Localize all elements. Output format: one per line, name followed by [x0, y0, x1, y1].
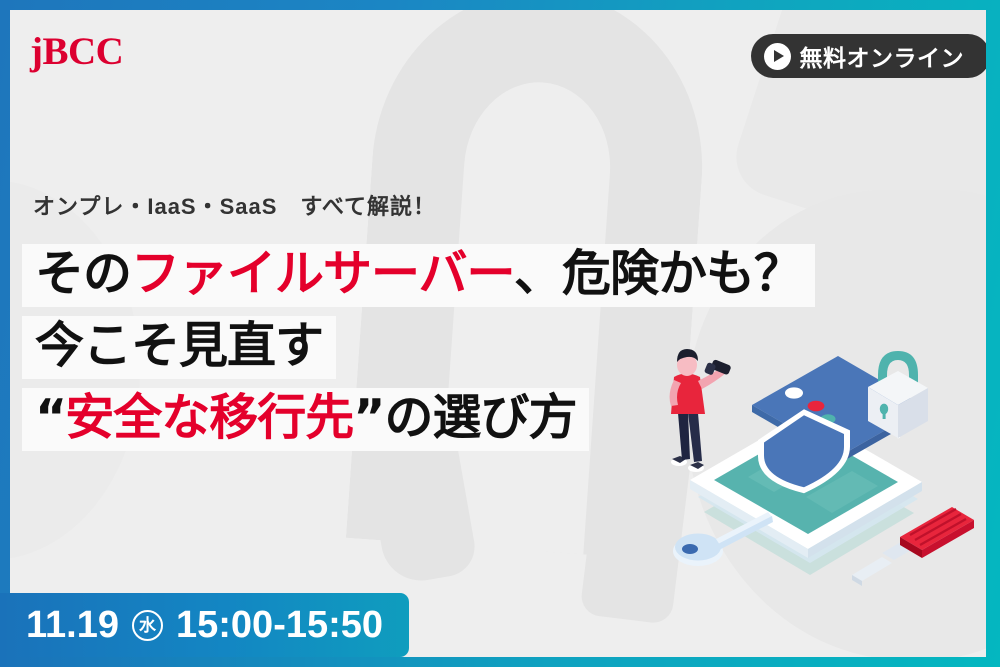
headline-line-1: そのファイルサーバー、危険かも？ — [22, 244, 815, 307]
headline-l3-seg3: ”の選び方 — [353, 389, 576, 446]
headline-l2-seg1: 今こそ見直す — [35, 317, 323, 374]
isometric-security-illustration — [656, 337, 986, 597]
headline-l3-openquote: “ — [35, 389, 65, 446]
headline-line-2: 今こそ見直す — [22, 316, 336, 379]
headline-line-3: “安全な移行先”の選び方 — [22, 388, 589, 451]
banner-inner-canvas: jBCC 無料オンライン オンプレ・IaaS・SaaS すべて解説！ そのファイ… — [10, 10, 986, 657]
headline-l1-seg3: 、危険かも？ — [514, 245, 802, 302]
padlock-icon — [868, 351, 928, 438]
event-banner: jBCC 無料オンライン オンプレ・IaaS・SaaS すべて解説！ そのファイ… — [0, 0, 1000, 667]
day-of-week-badge: 水 — [132, 610, 163, 641]
headline-l1-seg1: その — [35, 245, 131, 302]
event-time: 15:00-15:50 — [176, 606, 383, 644]
subtitle: オンプレ・IaaS・SaaS すべて解説！ — [33, 189, 436, 221]
person-with-binoculars — [670, 349, 732, 472]
headline-l3-seg2: 安全な移行先 — [65, 389, 353, 446]
jbcc-logo[interactable]: jBCC — [30, 32, 123, 71]
date-time-banner: 11.19 水 15:00-15:50 — [0, 593, 409, 657]
headline-l1-seg2: ファイルサーバー — [131, 245, 514, 302]
bottom-accent-strip — [0, 657, 1000, 667]
play-icon — [764, 43, 791, 70]
event-date: 11.19 — [26, 606, 119, 644]
headline-line-1-wrap: そのファイルサーバー、危険かも？ — [22, 244, 815, 316]
badge-label: 無料オンライン — [800, 39, 965, 73]
free-online-badge[interactable]: 無料オンライン — [751, 34, 987, 78]
